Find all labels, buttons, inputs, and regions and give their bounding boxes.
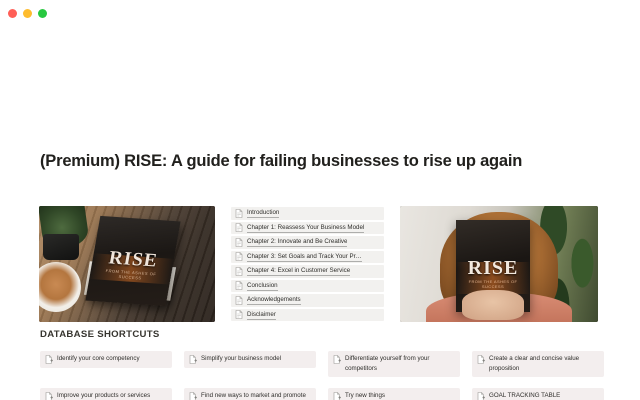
shortcut-card-label: Simplify your business model	[201, 354, 281, 364]
shortcut-card-find-new-ways-to-market[interactable]: Find new ways to market and promote your…	[184, 388, 316, 400]
window-titlebar	[0, 0, 640, 26]
shortcut-card-label: Differentiate yourself from your competi…	[345, 354, 455, 373]
shortcut-card-simplify-business-model[interactable]: Simplify your business model	[184, 351, 316, 368]
page-icon	[235, 267, 243, 276]
toc-item-label: Chapter 2: Innovate and Be Creative	[247, 237, 347, 247]
shortcut-card-label: GOAL TRACKING TABLE	[489, 391, 560, 400]
toc-item-label: Disclaimer	[247, 310, 276, 320]
toc-item-acknowledgements[interactable]: Acknowledgements	[231, 294, 384, 307]
page-link-icon	[477, 392, 485, 400]
shortcut-card-label: Try new things	[345, 391, 385, 400]
page-link-icon	[45, 355, 53, 364]
zoom-window-button[interactable]	[38, 9, 47, 18]
page-content: (Premium) RISE: A guide for failing busi…	[0, 26, 640, 400]
shortcut-card-label: Create a clear and concise value proposi…	[489, 354, 599, 373]
shortcut-card-identify-core-competency[interactable]: Identify your core competency	[40, 351, 172, 368]
shortcut-card-goal-tracking-table[interactable]: GOAL TRACKING TABLE	[472, 388, 604, 400]
page-link-icon	[189, 355, 197, 364]
toc-item-label: Acknowledgements	[247, 295, 301, 305]
book-cover-title: RISE	[459, 257, 527, 280]
page-link-icon	[477, 355, 485, 364]
person-hand	[462, 290, 524, 320]
shortcut-card-label: Improve your products or services	[57, 391, 150, 400]
page-link-icon	[333, 392, 341, 400]
page-icon	[235, 252, 243, 261]
shortcut-card-try-new-things[interactable]: Try new things	[328, 388, 460, 400]
shortcut-card-label: Identify your core competency	[57, 354, 140, 364]
toc-item-chapter-1[interactable]: Chapter 1: Reassess Your Business Model	[231, 222, 384, 235]
page-icon	[235, 296, 243, 305]
toc-item-label: Chapter 3: Set Goals and Track Your Pr…	[247, 252, 362, 262]
plant-pot	[43, 234, 79, 260]
person-holding-book-image: RISE FROM THE ASHES OF SUCCESS	[400, 206, 598, 322]
minimize-window-button[interactable]	[23, 9, 32, 18]
shortcut-card-label: Find new ways to market and promote your…	[201, 391, 311, 400]
toc-item-label: Chapter 1: Reassess Your Business Model	[247, 223, 364, 233]
hero-row: RISE FROM THE ASHES OF SUCCESS Introduct…	[39, 206, 600, 322]
toc-item-chapter-3[interactable]: Chapter 3: Set Goals and Track Your Pr…	[231, 251, 384, 264]
toc-item-chapter-2[interactable]: Chapter 2: Innovate and Be Creative	[231, 236, 384, 249]
book-cover: RISE FROM THE ASHES OF SUCCESS	[85, 216, 180, 306]
toc-item-disclaimer[interactable]: Disclaimer	[231, 309, 384, 322]
shortcut-card-create-value-proposition[interactable]: Create a clear and concise value proposi…	[472, 351, 604, 377]
toc-item-conclusion[interactable]: Conclusion	[231, 280, 384, 293]
page-title: (Premium) RISE: A guide for failing busi…	[40, 152, 522, 171]
page-icon	[235, 223, 243, 232]
page-icon	[235, 209, 243, 218]
page-icon	[235, 238, 243, 247]
table-of-contents: Introduction Chapter 1: Reassess Your Bu…	[231, 206, 384, 321]
page-link-icon	[189, 392, 197, 400]
book-on-table-image: RISE FROM THE ASHES OF SUCCESS	[39, 206, 215, 322]
close-window-button[interactable]	[8, 9, 17, 18]
toc-item-label: Conclusion	[247, 281, 278, 291]
page-icon	[235, 281, 243, 290]
book-cover-subtitle: FROM THE ASHES OF SUCCESS	[459, 279, 527, 289]
database-shortcuts-grid: Identify your core competency Simplify y…	[40, 351, 602, 400]
page-icon	[235, 310, 243, 319]
page-link-icon	[45, 392, 53, 400]
toc-item-introduction[interactable]: Introduction	[231, 207, 384, 220]
toc-item-label: Chapter 4: Excel in Customer Service	[247, 266, 350, 276]
toc-item-chapter-4[interactable]: Chapter 4: Excel in Customer Service	[231, 265, 384, 278]
page-link-icon	[333, 355, 341, 364]
database-shortcuts-heading: DATABASE SHORTCUTS	[40, 329, 160, 340]
shortcut-card-differentiate-from-competitors[interactable]: Differentiate yourself from your competi…	[328, 351, 460, 377]
toc-item-label: Introduction	[247, 208, 279, 218]
shortcut-card-improve-products-or-services[interactable]: Improve your products or services	[40, 388, 172, 400]
